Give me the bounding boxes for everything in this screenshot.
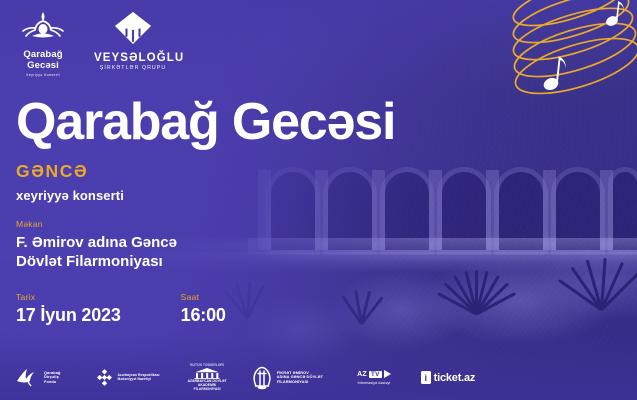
subtitle-kicker: xeyriyyə konserti: [16, 188, 395, 203]
aztv-caption: İnformasiya dəstəyi: [358, 381, 391, 385]
logo-veyseloglu: VEYSƏLOĞLU ŞİRKƏTLƏR QRUPU: [94, 9, 172, 71]
lyre-icon: [251, 366, 273, 390]
qarabag-revival-fund-emblem: [14, 367, 40, 389]
qg-logo-line2: Gecəsi: [27, 60, 59, 71]
partner-logo-strip: Qarabağ Dirçəliş Fondu Azərbaycan Respub…: [0, 363, 637, 392]
venue-line-1: F. Əmirov adına Gəncə: [16, 234, 177, 251]
qg-logo-line1: Qarabağ: [23, 49, 62, 60]
partner-iticket: i ticket.az: [421, 371, 476, 384]
partner-3-line3: FİLARMONİYASI: [277, 380, 323, 385]
ministry-of-culture-emblem: [95, 368, 114, 387]
date-block: Tarix 17 İyun 2023: [16, 292, 121, 326]
aztv-brand-az: AZ: [357, 371, 367, 378]
iticket-wordmark: ticket.az: [434, 372, 476, 384]
date-label: Tarix: [16, 292, 121, 302]
state-philharmonic-building-emblem: [190, 368, 224, 379]
partner-2-line3: FİLARMONİYASI: [188, 388, 227, 392]
play-triangle-icon: [384, 370, 391, 378]
partner-fikret-emirov-filarmoniya: FİKRƏT ƏMİROV ADINA GƏNCƏ DÖVLƏT FİLARMO…: [251, 366, 323, 390]
partner-2-top: BÜTÜN TƏDBİRLƏRİ: [190, 363, 224, 367]
headline-block: Qarabağ Gecəsi GƏNCƏ xeyriyyə konserti: [16, 96, 395, 203]
qg-logo-tagline: Xeyriyyə Konserti: [14, 73, 72, 77]
veyseloglu-diamond-emblem: [113, 11, 153, 45]
partner-3-text: FİKRƏT ƏMİROV ADINA GƏNCƏ DÖVLƏT FİLARMO…: [277, 371, 323, 385]
partner-azerbaycan-dovlet-filarmoniyasi: BÜTÜN TƏDBİRLƏRİ AZƏRBAYCAN DÖVLƏT AKADE…: [188, 363, 227, 392]
vg-logo-subtitle: ŞİRKƏTLƏR QRUPU: [94, 65, 172, 71]
iticket-mark: i: [421, 371, 431, 384]
time-block: Saat 16:00: [181, 292, 226, 326]
partner-medeniyyet-nazirliyi: Azərbaycan Respublikası Mədəniyyət Nazir…: [95, 368, 160, 387]
city-label: GƏNCƏ: [16, 161, 395, 182]
partner-0-line3: Fondu: [44, 380, 61, 385]
qarabag-gecesi-emblem: [20, 9, 66, 43]
venue-line-2: Dövlət Filarmoniyası: [16, 253, 163, 270]
partner-aztv: AZ TV İnformasiya dəstəyi: [357, 370, 390, 385]
page-title: Qarabağ Gecəsi: [16, 96, 395, 148]
time-label: Saat: [181, 292, 226, 302]
golden-music-swirl: [457, 0, 637, 134]
vg-logo-title: VEYSƏLOĞLU: [94, 52, 172, 64]
partner-0-text: Qarabağ Dirçəliş Fondu: [44, 371, 61, 385]
aztv-brand-tv: TV: [369, 371, 382, 378]
venue-label: Məkan: [16, 219, 226, 229]
venue-name: F. Əmirov adına Gəncə Dövlət Filarmoniya…: [16, 233, 226, 271]
partner-qarabag-dircelis-fondu: Qarabağ Dirçəliş Fondu: [14, 367, 61, 389]
partner-2-text: AZƏRBAYCAN DÖVLƏT AKADEMİK FİLARMONİYASI: [188, 380, 227, 392]
partner-1-line2: Mədəniyyət Nazirliyi: [118, 378, 160, 382]
iticket-logo: i ticket.az: [421, 371, 476, 384]
top-logo-row: Qarabağ Gecəsi Xeyriyyə Konserti VEYSƏLO…: [14, 9, 172, 77]
event-poster: Qarabağ Gecəsi Xeyriyyə Konserti VEYSƏLO…: [0, 0, 637, 400]
date-value: 17 İyun 2023: [16, 305, 121, 326]
event-details: Məkan F. Əmirov adına Gəncə Dövlət Filar…: [16, 219, 226, 326]
aztv-logo: AZ TV: [357, 370, 390, 378]
time-value: 16:00: [181, 305, 226, 326]
partner-1-text: Azərbaycan Respublikası Mədəniyyət Nazir…: [118, 374, 160, 382]
logo-qarabag-gecesi: Qarabağ Gecəsi Xeyriyyə Konserti: [14, 9, 72, 77]
